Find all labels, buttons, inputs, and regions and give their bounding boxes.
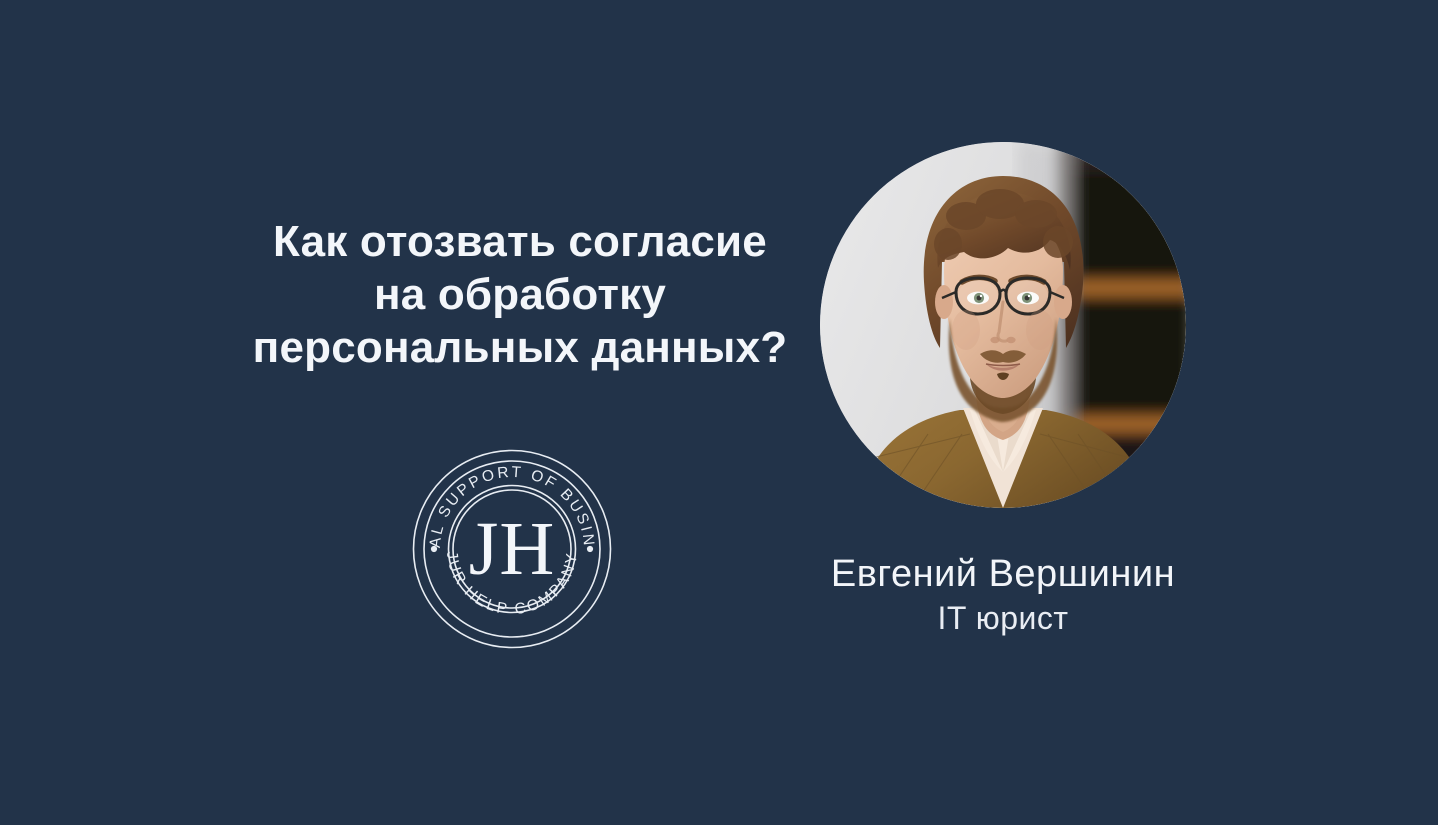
speaker-info: Евгений Вершинин IT юрист: [760, 552, 1246, 638]
speaker-name: Евгений Вершинин: [760, 552, 1246, 596]
speaker-role: IT юрист: [760, 598, 1246, 638]
page-title: Как отозвать согласие на обработку персо…: [150, 215, 890, 374]
slide-canvas: Как отозвать согласие на обработку персо…: [0, 0, 1438, 825]
title-line-2: на обработку: [150, 268, 890, 321]
title-line-3: персональных данных?: [150, 321, 890, 374]
portrait-photo: [820, 142, 1186, 508]
company-logo: LEGAL SUPPORT OF BUSINESS JUR HELP COMPA…: [412, 449, 612, 649]
logo-monogram: JH: [469, 507, 555, 591]
title-line-1: Как отозвать согласие: [150, 215, 890, 268]
avatar: [820, 142, 1186, 508]
